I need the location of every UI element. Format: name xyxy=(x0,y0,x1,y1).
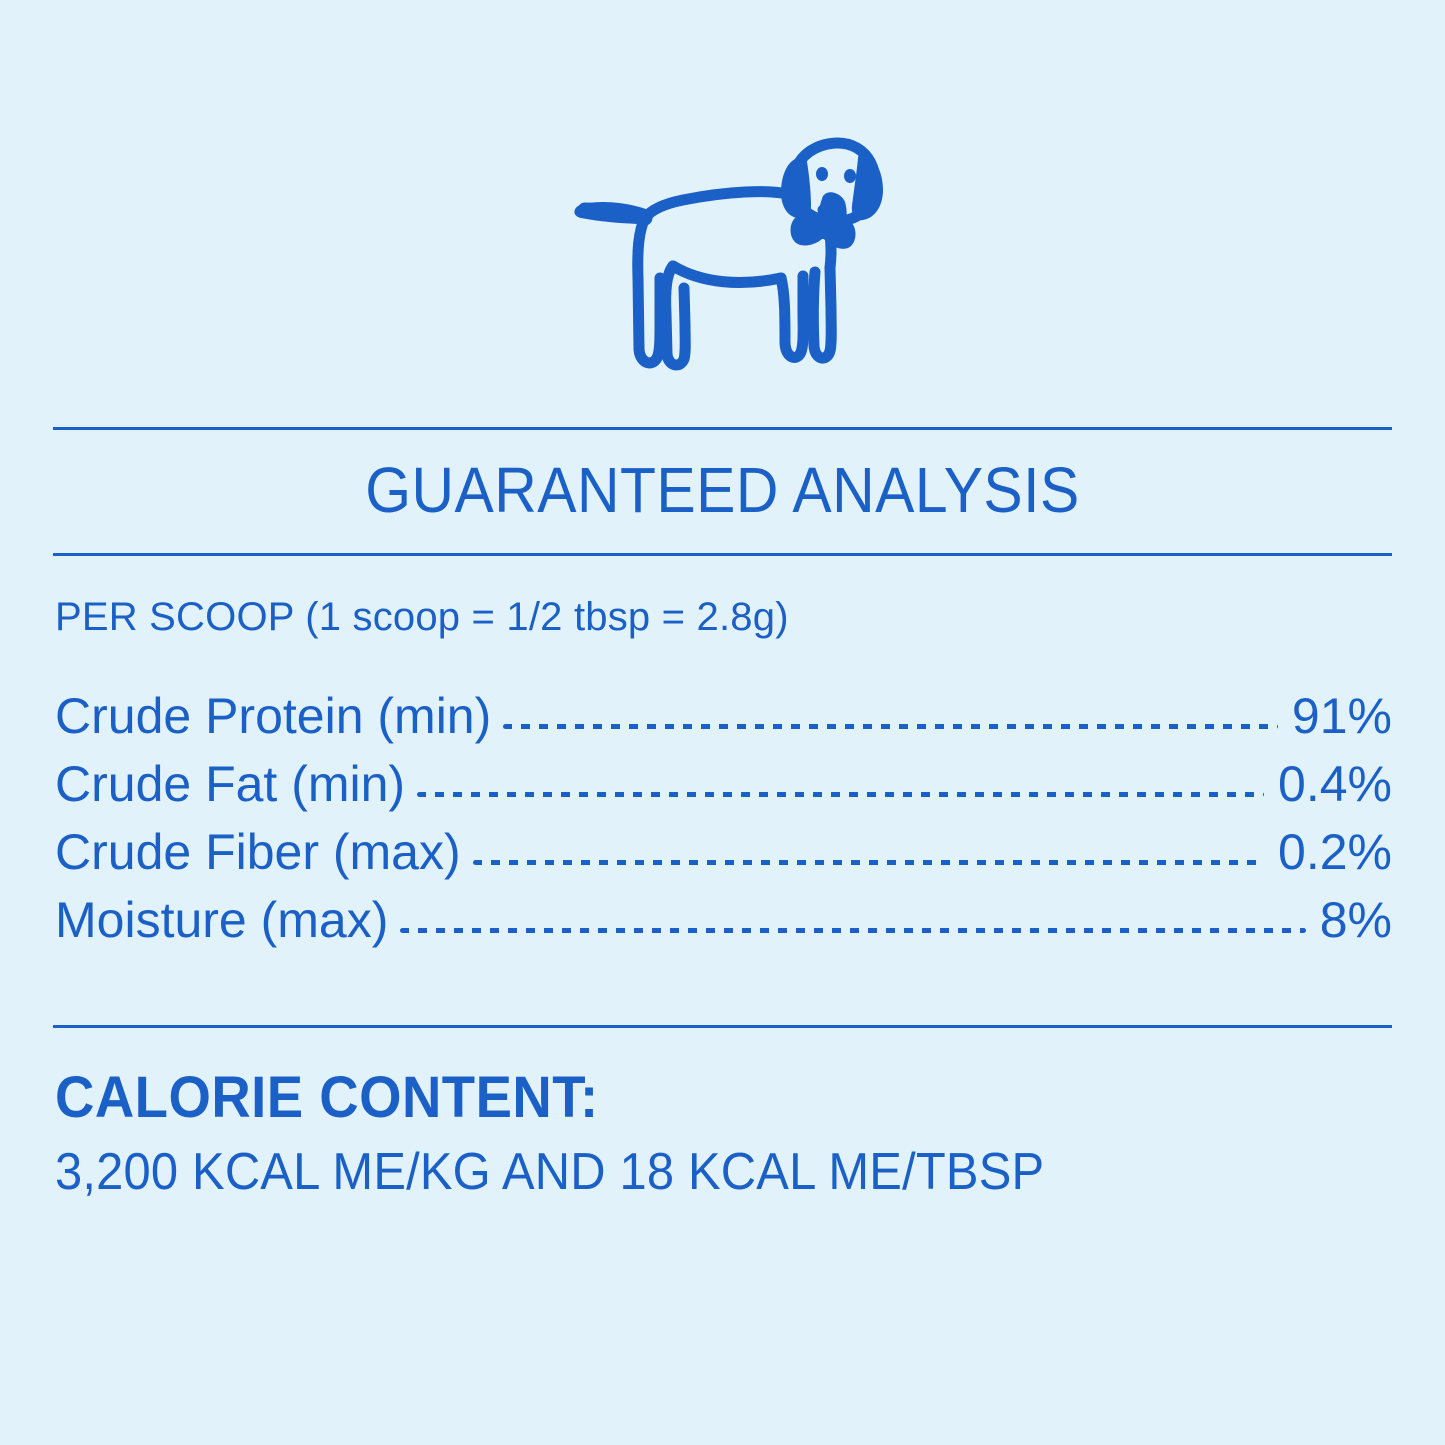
analysis-label: Crude Protein (min) xyxy=(55,682,503,750)
analysis-value: 0.4% xyxy=(1264,750,1392,818)
calorie-content-heading: CALORIE CONTENT: xyxy=(55,1062,1315,1134)
divider-above-title xyxy=(53,427,1392,430)
dog-eye-left xyxy=(816,167,828,181)
dog-icon xyxy=(523,118,923,408)
analysis-row: Moisture (max) 8% xyxy=(55,886,1392,954)
analysis-row: Crude Fat (min) 0.4% xyxy=(55,750,1392,818)
analysis-label: Crude Fiber (max) xyxy=(55,818,473,886)
divider-above-calorie xyxy=(53,1025,1392,1028)
analysis-list: Crude Protein (min) 91% Crude Fat (min) … xyxy=(55,682,1392,954)
divider-below-title xyxy=(53,553,1392,556)
leader-dots xyxy=(417,792,1264,793)
dog-ear-left xyxy=(781,157,811,218)
leader-dots xyxy=(400,928,1305,929)
analysis-label: Moisture (max) xyxy=(55,886,400,954)
analysis-value: 91% xyxy=(1278,682,1392,750)
guaranteed-analysis-label: GUARANTEED ANALYSIS PER SCOOP (1 scoop =… xyxy=(0,0,1445,1445)
analysis-value: 0.2% xyxy=(1264,818,1392,886)
dog-illustration xyxy=(0,118,1445,408)
per-serving-note: PER SCOOP (1 scoop = 1/2 tbsp = 2.8g) xyxy=(55,592,789,642)
dog-bow-tie-knot xyxy=(814,221,832,239)
analysis-row: Crude Protein (min) 91% xyxy=(55,682,1392,750)
calorie-content-block: CALORIE CONTENT: 3,200 KCAL ME/KG AND 18… xyxy=(55,1062,1395,1206)
analysis-value: 8% xyxy=(1306,886,1392,954)
dog-ear-right xyxy=(851,152,882,220)
page-title: GUARANTEED ANALYSIS xyxy=(58,452,1387,528)
leader-dots xyxy=(503,724,1278,725)
dog-eye-right xyxy=(844,169,856,183)
dog-tail xyxy=(574,202,649,224)
calorie-content-value: 3,200 KCAL ME/KG AND 18 KCAL ME/TBSP xyxy=(55,1138,1315,1206)
leader-dots xyxy=(473,860,1264,861)
analysis-row: Crude Fiber (max) 0.2% xyxy=(55,818,1392,886)
analysis-label: Crude Fat (min) xyxy=(55,750,417,818)
